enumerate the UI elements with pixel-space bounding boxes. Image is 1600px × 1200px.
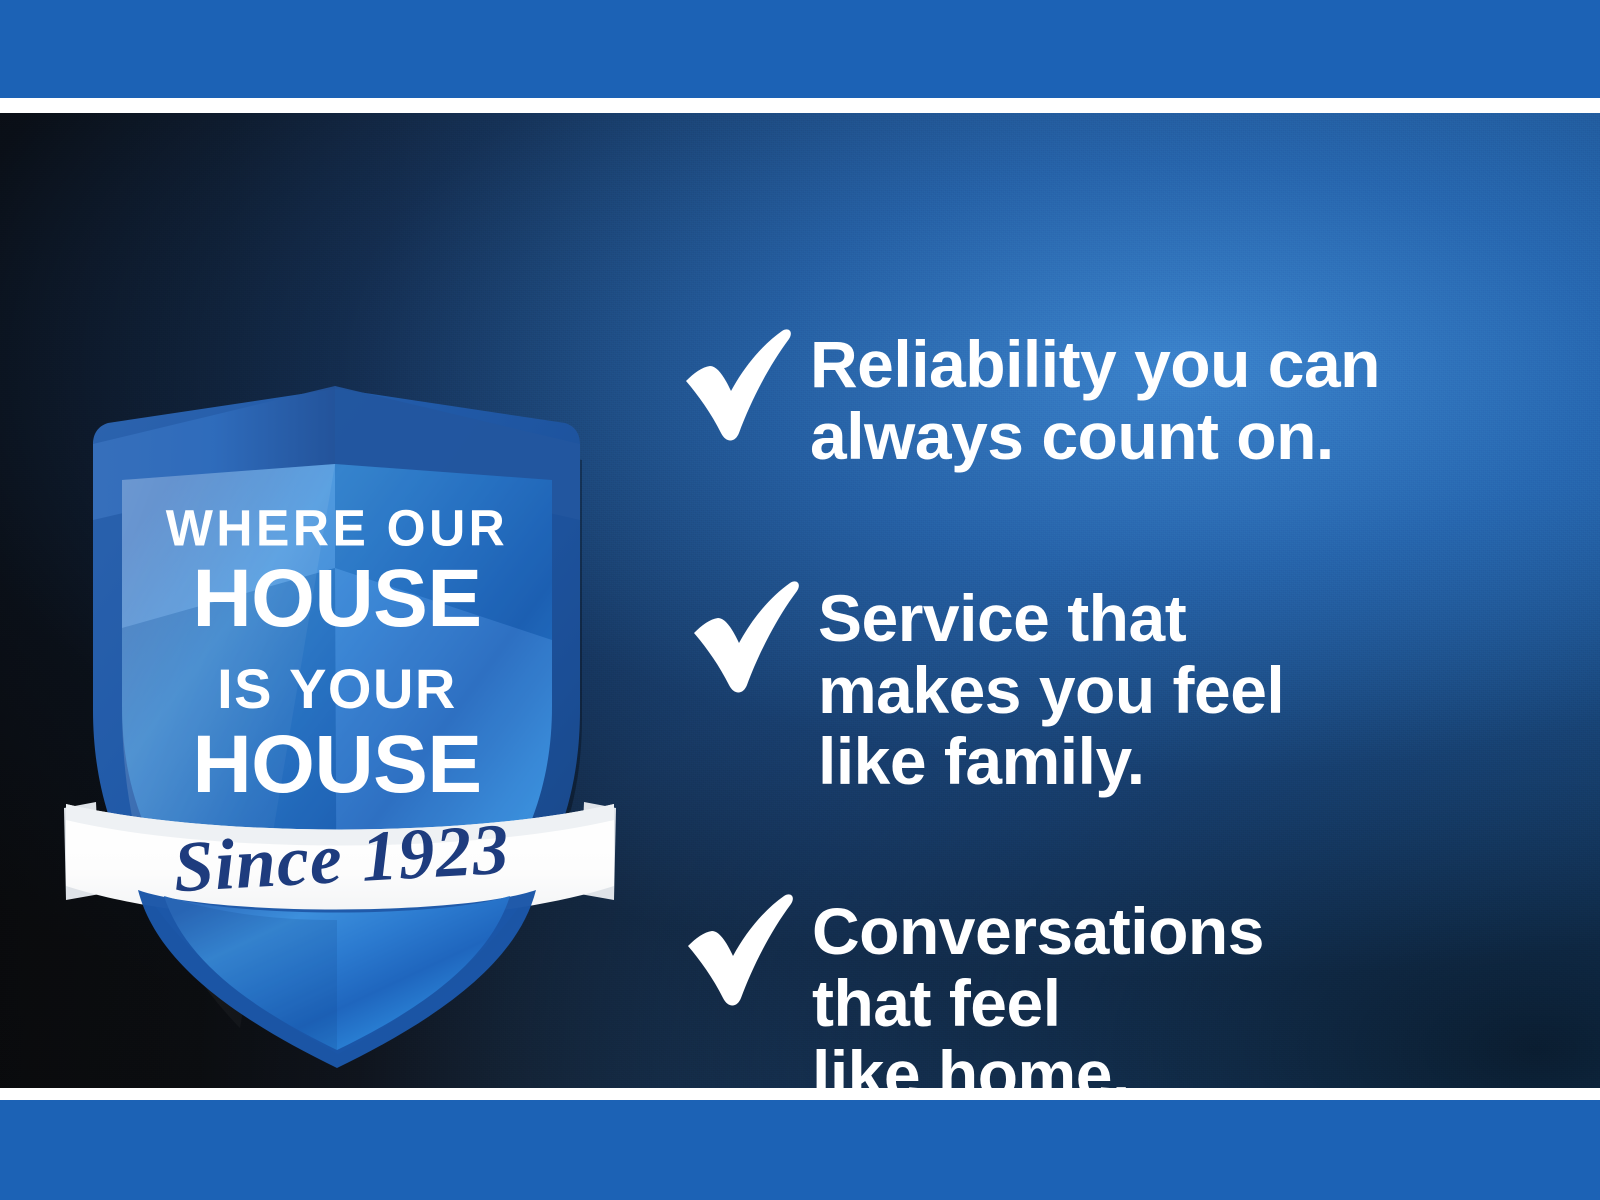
benefit-text: Reliability you can always count on.	[810, 323, 1380, 472]
checkmark-icon	[670, 323, 796, 445]
main-panel: WHERE OUR HOUSE IS YOUR HOUSE Since 1923	[0, 113, 1600, 1088]
shield-logo: WHERE OUR HOUSE IS YOUR HOUSE Since 1923	[60, 268, 620, 1068]
bottom-brand-bar	[0, 1100, 1600, 1200]
logo-line1: WHERE OUR	[166, 499, 509, 557]
logo-line2: HOUSE	[192, 553, 481, 644]
benefit-item: Conversations that feel like home.	[672, 888, 1264, 1088]
benefits-list: Reliability you can always count on. Ser…	[670, 263, 1550, 1088]
benefit-text: Service that makes you feel like family.	[818, 575, 1284, 798]
logo-line3: IS YOUR	[217, 657, 457, 720]
benefit-item: Reliability you can always count on.	[670, 323, 1380, 472]
benefit-item: Service that makes you feel like family.	[678, 575, 1284, 798]
logo-line4: HOUSE	[192, 719, 481, 810]
checkmark-icon	[672, 888, 798, 1010]
benefit-text: Conversations that feel like home.	[812, 888, 1264, 1088]
promo-graphic: WHERE OUR HOUSE IS YOUR HOUSE Since 1923	[0, 0, 1600, 1200]
checkmark-icon	[678, 575, 804, 697]
top-brand-bar	[0, 0, 1600, 98]
